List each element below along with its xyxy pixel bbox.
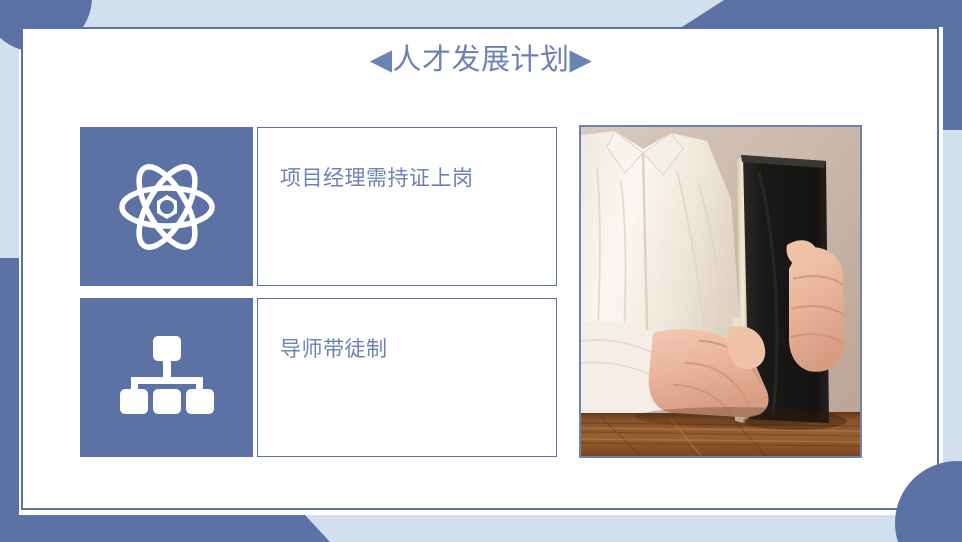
- text-box-row-2[interactable]: 导师带徒制: [257, 298, 557, 457]
- left-dark-band: [0, 258, 19, 542]
- text-box-row-1[interactable]: 项目经理需持证上岗: [257, 127, 557, 286]
- top-dark-band: [682, 0, 962, 27]
- text-box-label: 项目经理需持证上岗: [280, 164, 474, 194]
- atom-icon: [117, 157, 217, 257]
- org-chart-icon: [117, 334, 217, 422]
- person-holding-black-book-photo: [579, 125, 862, 458]
- slide-canvas: ◀人才发展计划▶ 项目经理需持证上岗 导师带徒制: [0, 0, 962, 542]
- photo-illustration: [581, 127, 860, 456]
- icon-tile-atom[interactable]: [80, 127, 253, 286]
- bottom-dark-band: [0, 515, 330, 542]
- page-title: ◀人才发展计划▶: [0, 41, 962, 79]
- text-box-label: 导师带徒制: [280, 335, 388, 365]
- icon-tile-org-chart[interactable]: [80, 298, 253, 457]
